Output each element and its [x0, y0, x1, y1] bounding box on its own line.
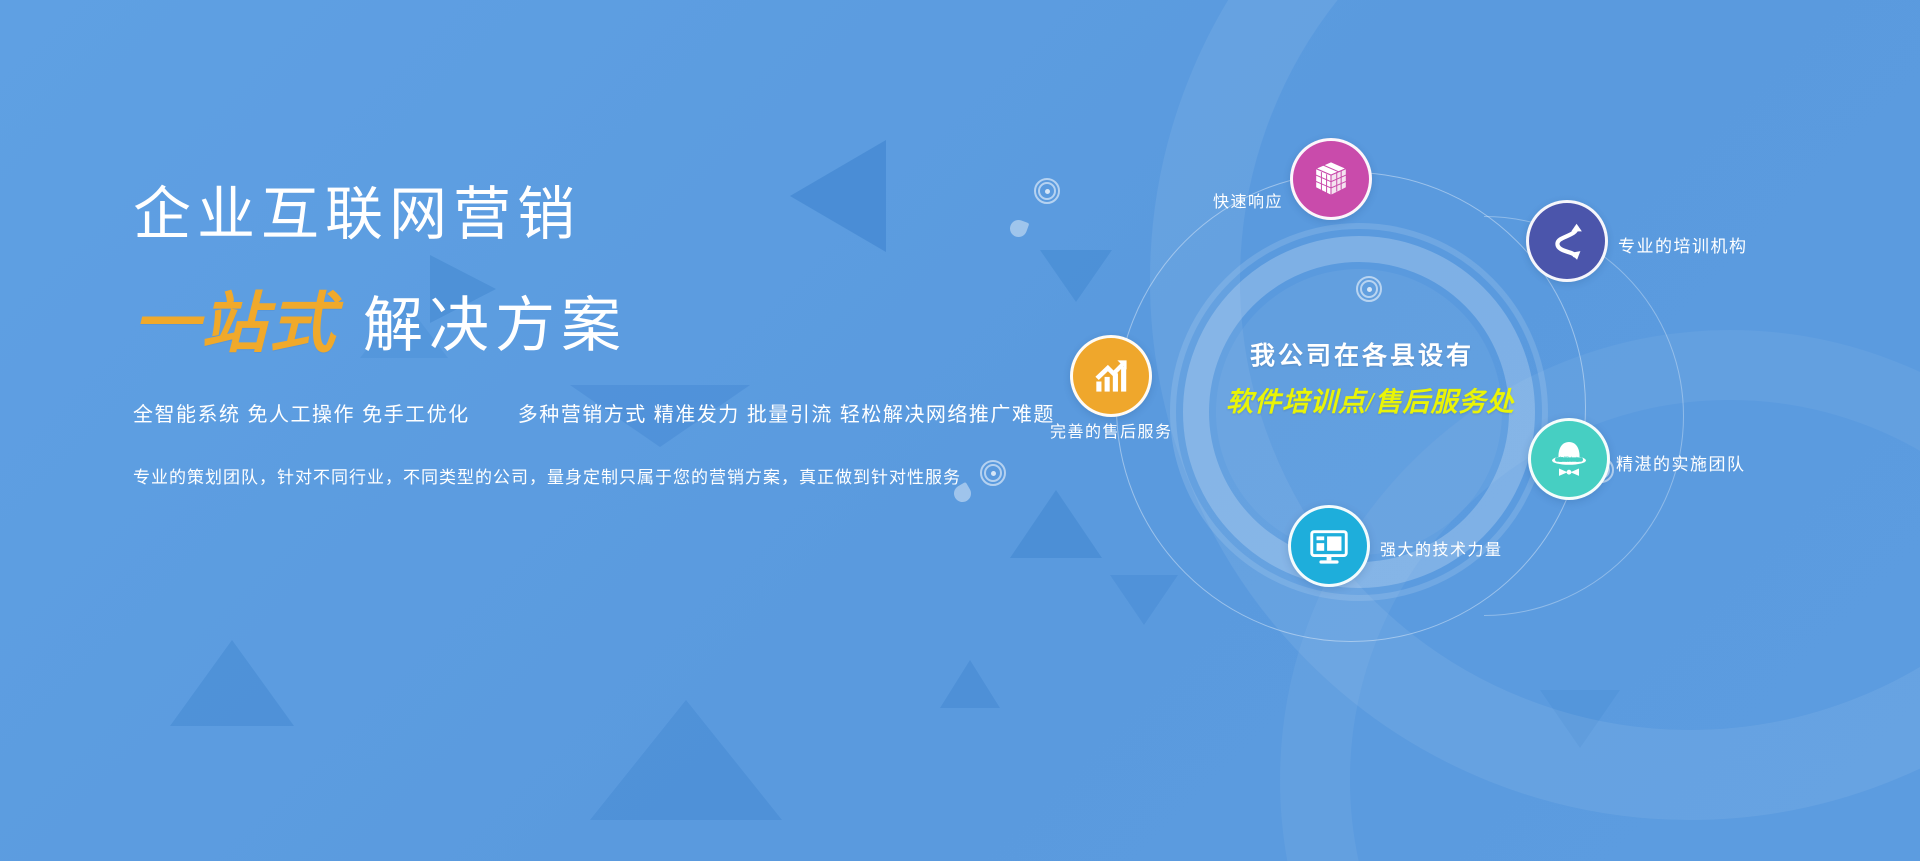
- support-hat-icon: 客服中心: [1545, 435, 1593, 483]
- target-marker-icon: [1034, 178, 1060, 204]
- ring-center-line-2: 软件培训点/售后服务处: [1226, 380, 1498, 419]
- cube-icon: [1308, 156, 1354, 202]
- feature-line-1-part-a: 全智能系统 免人工操作 免手工优化: [133, 404, 470, 426]
- node-fast-response[interactable]: [1290, 138, 1372, 220]
- growth-chart-icon: [1089, 354, 1133, 398]
- node-implementation-team[interactable]: 客服中心: [1528, 418, 1610, 500]
- double-arrow-icon: [1544, 218, 1590, 264]
- page-title: 企业互联网营销: [133, 186, 1053, 244]
- hat-band-caption: 客服中心: [1558, 455, 1581, 463]
- node-after-sales[interactable]: [1070, 335, 1152, 417]
- ring-center-line-1: 我公司在各县设有: [1226, 336, 1498, 372]
- decor-triangle: [170, 640, 294, 726]
- decor-triangle: [590, 700, 782, 820]
- marketing-banner: 企业互联网营销 一站式 解决方案 全智能系统 免人工操作 免手工优化 多种营销方…: [0, 0, 1920, 861]
- node-label-technical-power: 强大的技术力量: [1380, 536, 1503, 560]
- target-marker-icon: [1356, 276, 1382, 302]
- decor-triangle: [940, 660, 1000, 708]
- feature-line-1-part-b: 多种营销方式 精准发力 批量引流 轻松解决网络推广难题: [518, 404, 1055, 426]
- feature-line-1: 全智能系统 免人工操作 免手工优化 多种营销方式 精准发力 批量引流 轻松解决网…: [133, 398, 1053, 427]
- ring-center-copy: 我公司在各县设有 软件培训点/售后服务处: [1226, 336, 1498, 419]
- node-technical-power[interactable]: [1288, 505, 1370, 587]
- headline-group: 企业互联网营销 一站式 解决方案 全智能系统 免人工操作 免手工优化 多种营销方…: [133, 186, 1053, 488]
- sub-headline-rest: 解决方案: [363, 296, 627, 356]
- node-training-org[interactable]: [1526, 200, 1608, 282]
- monitor-icon: [1306, 523, 1352, 569]
- service-ring-diagram: 我公司在各县设有 软件培训点/售后服务处 快速响应: [1088, 120, 1848, 740]
- feature-line-2: 专业的策划团队，针对不同行业，不同类型的公司，量身定制只属于您的营销方案，真正做…: [133, 463, 1053, 488]
- target-marker-icon: [980, 460, 1006, 486]
- node-label-fast-response: 快速响应: [1213, 188, 1283, 212]
- sub-headline-accent: 一站式: [133, 290, 337, 356]
- node-label-after-sales: 完善的售后服务: [1050, 418, 1173, 442]
- sub-headline: 一站式 解决方案: [133, 290, 1053, 356]
- node-label-training-org: 专业的培训机构: [1618, 232, 1748, 257]
- node-label-implementation-team: 精湛的实施团队: [1616, 450, 1746, 475]
